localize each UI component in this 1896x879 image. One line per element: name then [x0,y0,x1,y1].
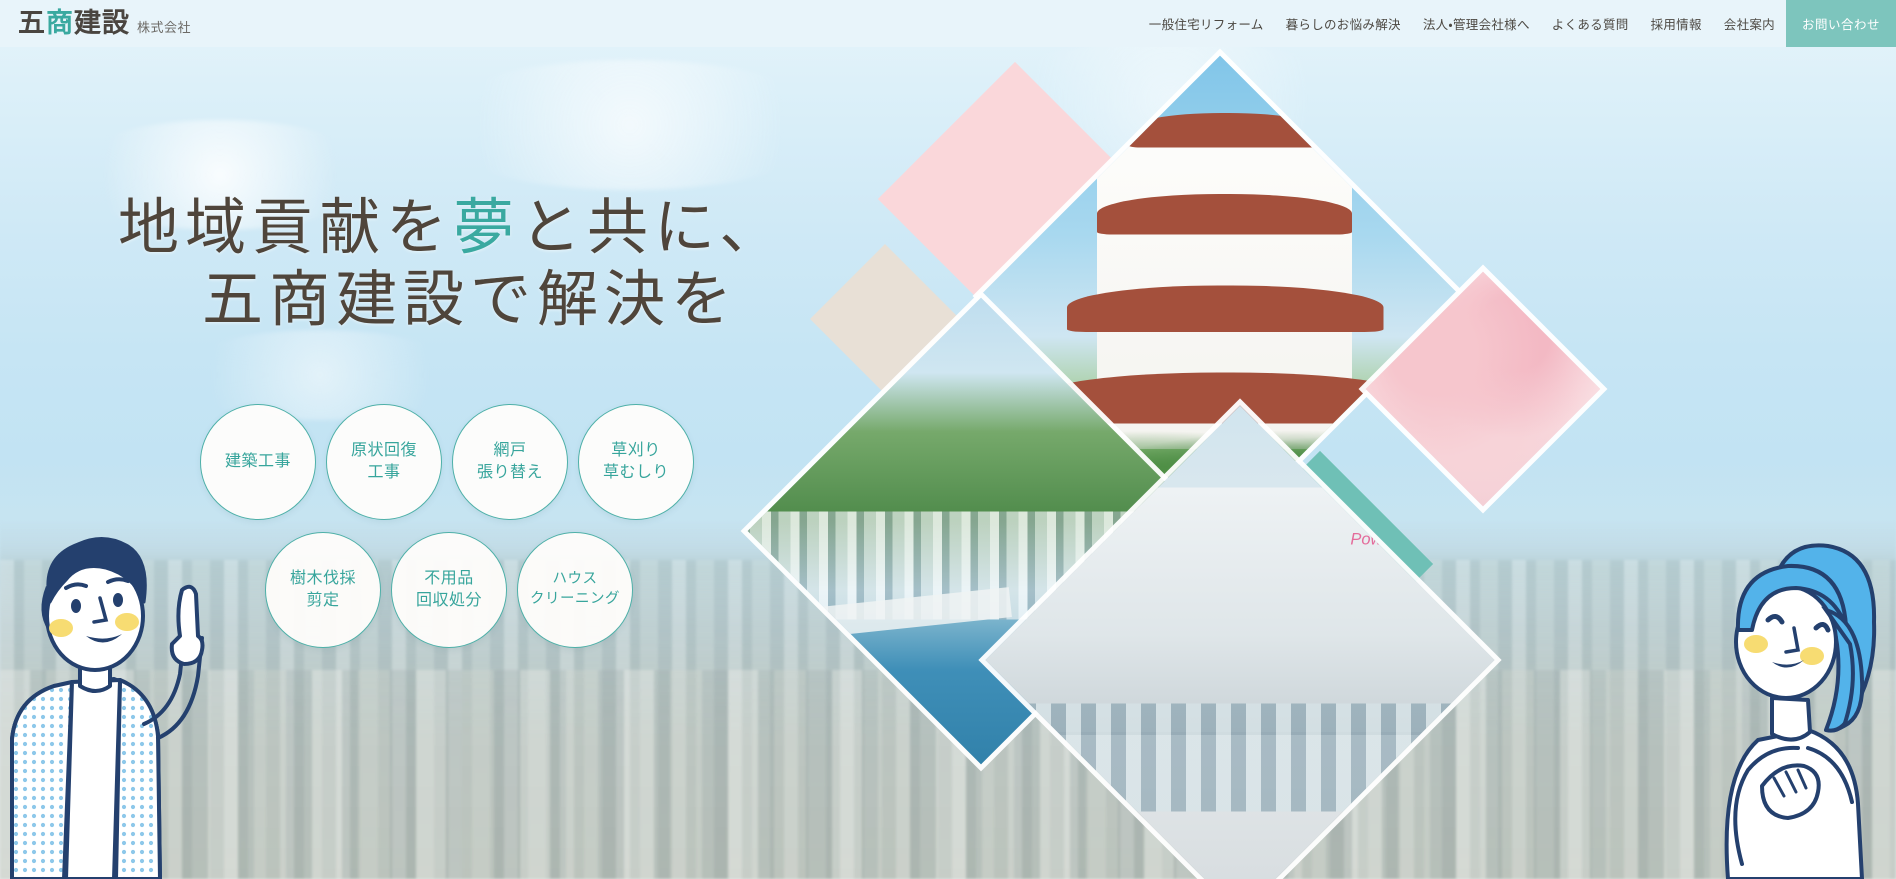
service-label: 不用品 回収処分 [416,568,482,611]
main-navigation: 一般住宅リフォーム 暮らしのお悩み解決 法人・管理会社様へ よくある質問 採用情… [1138,0,1896,47]
service-label: 草刈り 草むしり [603,440,669,483]
service-circle-house-cleaning[interactable]: ハウス クリーニング [517,532,633,648]
logo-text: 五商建設 [18,10,130,37]
site-header: 五商建設 株式会社 一般住宅リフォーム 暮らしのお悩み解決 法人・管理会社様へ … [0,0,1896,47]
service-circle-fuyohin[interactable]: 不用品 回収処分 [391,532,507,648]
blush-right [1800,647,1824,665]
headline-line-2: 五商建設で解決を [202,268,786,334]
service-label: 建築工事 [225,451,291,473]
blush-right [115,613,139,631]
station-sign-japanese: 福島駅 [1024,811,1128,855]
nav-item-kurashi[interactable]: 暮らしのお悩み解決 [1275,0,1412,47]
headline-text-a: 地域貢献を [118,195,453,262]
contact-button[interactable]: お問い合わせ [1786,0,1896,47]
service-circle-amido[interactable]: 網戸 張り替え [452,404,568,520]
nav-item-faq[interactable]: よくある質問 [1541,0,1640,47]
headline-text-b: と共に、 [520,195,786,262]
service-circle-jumokubassai[interactable]: 樹木伐採 剪定 [265,532,381,648]
site-logo[interactable]: 五商建設 株式会社 [18,10,191,37]
man-pointing-illustration [0,524,214,879]
service-label: 網戸 張り替え [477,440,543,483]
blush-left [1744,635,1768,653]
service-label: ハウス クリーニング [530,570,620,609]
woman-hands-clasped-illustration [1676,534,1890,879]
logo-char-1: 五 [18,8,46,38]
hero-page: PowerCity Pivot 福島駅 FUKUSHIMA STATION 地域… [0,0,1896,879]
nav-item-reform[interactable]: 一般住宅リフォーム [1138,0,1275,47]
nav-item-corporate[interactable]: 法人・管理会社様へ [1412,0,1541,47]
blush-left [49,619,73,637]
service-circle-kenchiku[interactable]: 建築工事 [200,404,316,520]
nav-item-recruit[interactable]: 採用情報 [1640,0,1713,47]
headline-line-1: 地域貢献を夢と共に、 [118,196,786,262]
hero-headline: 地域貢献を夢と共に、 五商建設で解決を [118,196,786,334]
service-circles-row-1: 建築工事 原状回復 工事 網戸 張り替え 草刈り 草むしり [200,404,694,520]
service-label: 樹木伐採 剪定 [290,568,356,611]
service-circles-row-2: 樹木伐採 剪定 不用品 回収処分 ハウス クリーニング [265,532,633,648]
logo-char-accent: 商 [46,8,74,38]
logo-char-rest: 建設 [74,8,130,38]
logo-subtitle: 株式会社 [137,17,191,36]
service-circle-kusakari[interactable]: 草刈り 草むしり [578,404,694,520]
service-label: 原状回復 工事 [351,440,417,483]
service-circle-genjokaifuku[interactable]: 原状回復 工事 [326,404,442,520]
nav-item-company[interactable]: 会社案内 [1713,0,1786,47]
headline-accent-word: 夢 [453,195,520,262]
